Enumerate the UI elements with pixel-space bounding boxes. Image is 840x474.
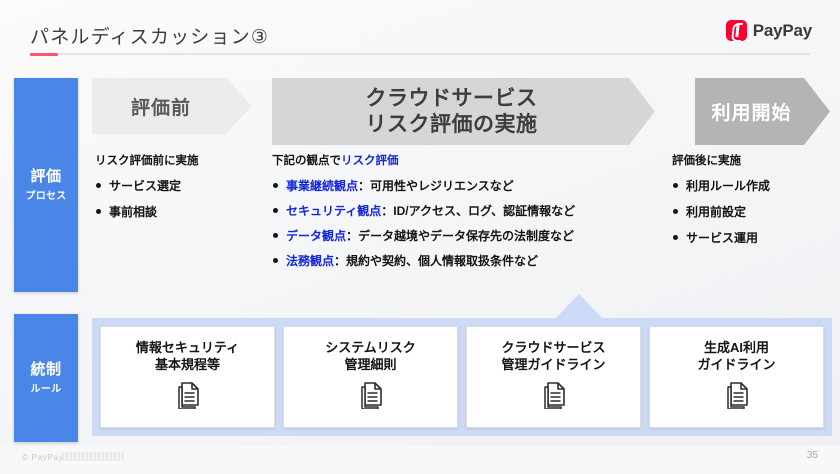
rail-governance-rules: 統制 ルール xyxy=(14,314,78,442)
rail-evaluation-process: 評価 プロセス xyxy=(14,78,78,292)
chevron-stage-before-evaluation: 評価前 xyxy=(92,78,252,134)
bullet-desc: ：可用性やレジリエンスなど xyxy=(358,179,514,193)
bullet-label: 事前相談 xyxy=(109,205,157,219)
document-icon xyxy=(357,379,385,414)
bullet-label: データ観点 xyxy=(286,229,346,243)
bullet-label: セキュリティ観点 xyxy=(286,204,381,218)
paypay-logo: PayPay xyxy=(726,20,812,41)
paypay-logo-text: PayPay xyxy=(753,21,812,41)
chevron-stage-service-start: 利用開始 xyxy=(695,78,830,145)
stage-heading-highlight: リスク評価 xyxy=(341,155,399,167)
stage-heading: 下記の観点でリスク評価 xyxy=(272,152,575,168)
rule-card-title: 情報セキュリティ 基本規程等 xyxy=(136,340,239,374)
rail-label-main: 評価 xyxy=(30,168,61,185)
rule-card-title: システムリスク 管理細則 xyxy=(325,340,416,374)
title-divider xyxy=(30,53,810,55)
bullet-label: 法務観点 xyxy=(286,254,334,268)
bullet-desc: ：規約や契約、個人情報取扱条件など xyxy=(334,254,538,268)
stage-bullet-list: 事業継続観点：可用性やレジリエンスなど セキュリティ観点：ID/アクセス、ログ、… xyxy=(272,177,575,269)
document-icon xyxy=(723,379,751,414)
page-number: 35 xyxy=(807,450,818,461)
footer-bar xyxy=(0,446,840,474)
document-icon xyxy=(540,379,568,414)
title-accent-bar xyxy=(30,53,58,56)
stage-bullet-list: 利用ルール作成 利用前設定 サービス運用 xyxy=(672,177,770,246)
stage-bullet-list: サービス選定 事前相談 xyxy=(95,177,199,220)
stage-heading-plain: 下記の観点で xyxy=(272,155,341,167)
bullet-label: サービス運用 xyxy=(686,231,758,245)
rule-card[interactable]: 生成AI利用 ガイドライン xyxy=(649,326,824,428)
list-item: データ観点：データ越境やデータ保存先の法制度など xyxy=(272,227,575,244)
rule-card-title: クラウドサービス 管理ガイドライン xyxy=(501,340,605,374)
bullet-label: 利用前設定 xyxy=(686,205,746,219)
rail-label-sub: ルール xyxy=(31,380,62,395)
list-item: 法務観点：規約や契約、個人情報取扱条件など xyxy=(272,252,575,269)
rule-card-title: 生成AI利用 ガイドライン xyxy=(697,340,775,374)
list-item: 事前相談 xyxy=(95,203,199,220)
stage-heading-plain: 評価後に実施 xyxy=(672,155,741,167)
stage-heading-plain: リスク評価前に実施 xyxy=(95,155,199,167)
bullet-label: 事業継続観点 xyxy=(286,179,358,193)
list-item: サービス選定 xyxy=(95,177,199,194)
rule-card[interactable]: クラウドサービス 管理ガイドライン xyxy=(466,326,641,428)
rail-label-sub: プロセス xyxy=(25,187,66,202)
redacted-block xyxy=(62,452,124,461)
stage-heading: リスク評価前に実施 xyxy=(95,152,199,168)
rule-card[interactable]: 情報セキュリティ 基本規程等 xyxy=(100,326,275,428)
document-icon xyxy=(174,379,202,414)
bullet-desc: ：ID/アクセス、ログ、認証情報など xyxy=(381,204,575,218)
list-item: サービス運用 xyxy=(672,229,770,246)
slide-canvas: パネルディスカッション③ PayPay 評価 プロセス 統制 ルール 評価前 ク… xyxy=(0,0,840,474)
page-title: パネルディスカッション③ xyxy=(30,22,269,49)
stage-column-risk-assessment: 下記の観点でリスク評価 事業継続観点：可用性やレジリエンスなど セキュリティ観点… xyxy=(272,152,575,277)
paypay-logo-mark-icon xyxy=(726,20,747,41)
chevron-stage-risk-assessment: クラウドサービス リスク評価の実施 xyxy=(272,78,655,145)
list-item: 利用前設定 xyxy=(672,203,770,220)
rail-label-main: 統制 xyxy=(30,361,61,378)
stage-column-service-start: 評価後に実施 利用ルール作成 利用前設定 サービス運用 xyxy=(672,152,770,255)
list-item: 利用ルール作成 xyxy=(672,177,770,194)
bullet-label: サービス選定 xyxy=(109,179,181,193)
rules-card-row: 情報セキュリティ 基本規程等 システムリスク 管理細則 xyxy=(92,318,832,436)
rule-card[interactable]: システムリスク 管理細則 xyxy=(283,326,458,428)
bullet-desc: ：データ越境やデータ保存先の法制度など xyxy=(346,229,574,243)
copyright-text: © PayPay xyxy=(22,452,63,462)
list-item: セキュリティ観点：ID/アクセス、ログ、認証情報など xyxy=(272,202,575,219)
bullet-label: 利用ルール作成 xyxy=(686,179,770,193)
panel-pointer-arrow xyxy=(555,294,603,319)
list-item: 事業継続観点：可用性やレジリエンスなど xyxy=(272,177,575,194)
stage-heading: 評価後に実施 xyxy=(672,152,770,168)
stage-column-before-evaluation: リスク評価前に実施 サービス選定 事前相談 xyxy=(95,152,199,229)
